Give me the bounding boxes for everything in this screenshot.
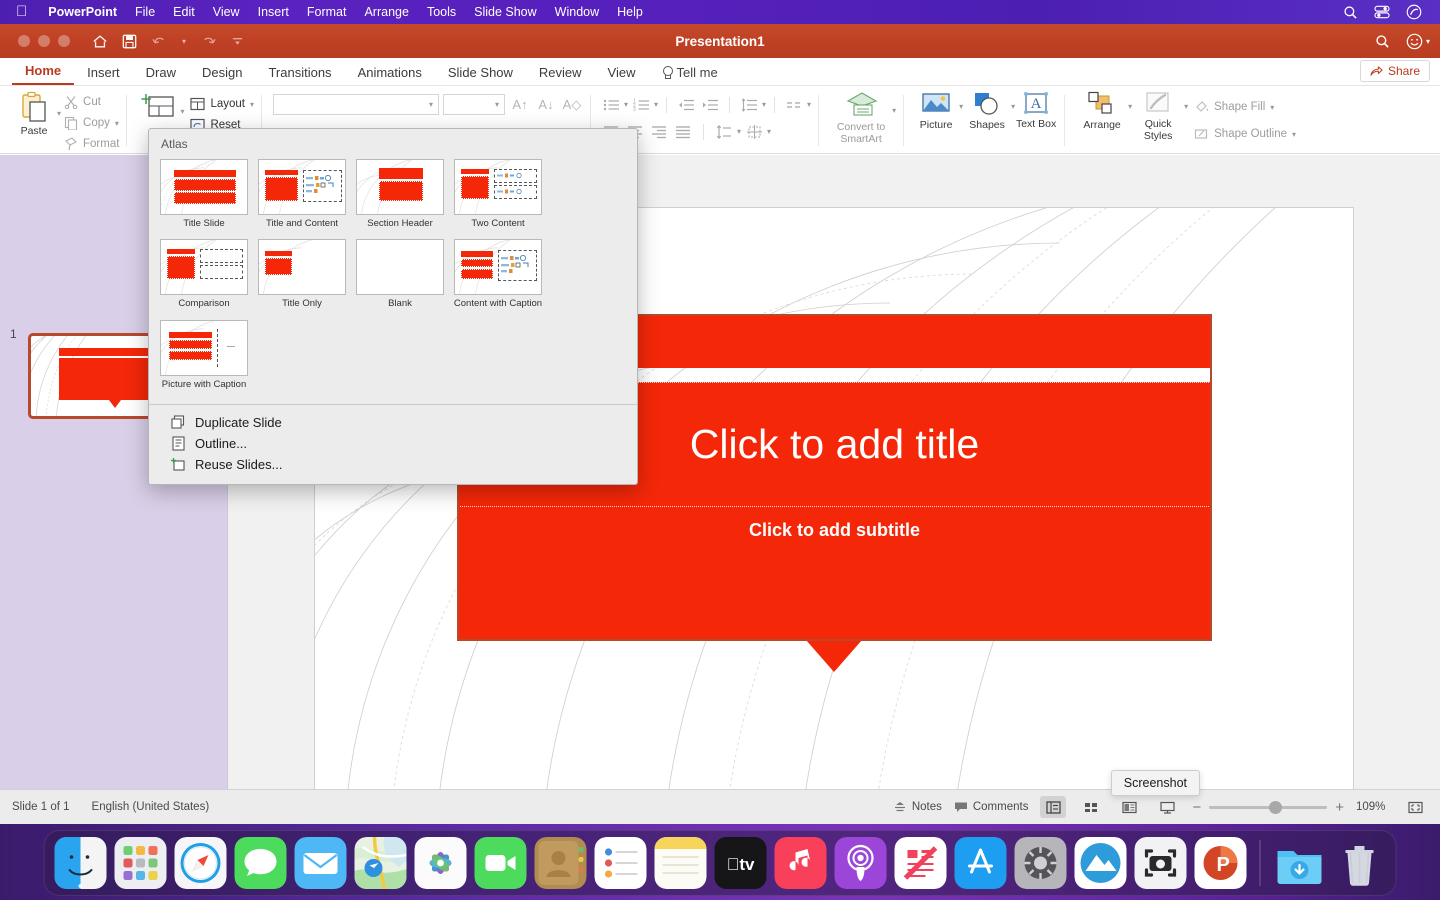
slide-thumbnail-number: 1 — [10, 327, 17, 341]
cut-icon — [64, 95, 78, 109]
convert-to-smartart-button[interactable]: Convert to SmartArt — [830, 88, 892, 145]
zoom-knob[interactable] — [1269, 801, 1282, 814]
svg-text:A: A — [1031, 96, 1042, 112]
shape-outline-button[interactable]: Shape Outline ▾ — [1194, 125, 1296, 143]
view-slide-sorter-icon[interactable] — [1078, 796, 1104, 818]
powerpoint-icon[interactable]: P — [1195, 837, 1247, 889]
cut-label: Cut — [83, 96, 101, 108]
share-label: Share — [1388, 64, 1420, 78]
outline-icon — [171, 436, 186, 451]
macos-menubar:  PowerPoint File Edit View Insert Forma… — [0, 0, 1440, 24]
subtitle-placeholder-text: Click to add subtitle — [749, 520, 920, 541]
screenshot-tooltip: Screenshot — [1111, 770, 1200, 796]
menubar-item-tools[interactable]: Tools — [418, 5, 465, 19]
ribbon-group-insert: Picture ▾ Shapes ▾ — [903, 88, 1064, 153]
account-icon[interactable]: ▾ — [1406, 33, 1430, 50]
shapes-button[interactable]: Shapes — [963, 88, 1011, 131]
duplicate-slide-menu-item[interactable]: Duplicate Slide — [149, 412, 637, 433]
layout-option-blank[interactable]: Blank — [351, 237, 449, 317]
columns-icon[interactable] — [783, 94, 805, 115]
quick-styles-label: Quick Styles — [1132, 119, 1184, 142]
layout-thumb-title-only — [258, 239, 346, 295]
paste-label: Paste — [21, 125, 48, 137]
close-window-button[interactable] — [18, 35, 30, 47]
notes-icon — [893, 801, 907, 813]
running-indicator — [199, 884, 203, 888]
new-slide-dropdown-arrow[interactable]: ▾ — [180, 107, 184, 116]
menubar-item-file[interactable]: File — [126, 5, 164, 19]
maximize-window-button[interactable] — [58, 35, 70, 47]
layout-option-two-content[interactable]: Two Content — [449, 157, 547, 237]
layout-caption: Two Content — [471, 219, 524, 229]
line-spacing-dropdown-arrow[interactable]: ▾ — [762, 100, 766, 109]
align-right-icon[interactable] — [648, 121, 670, 142]
menubar-item-arrange[interactable]: Arrange — [355, 5, 417, 19]
tab-insert[interactable]: Insert — [74, 65, 133, 85]
outline-label: Outline... — [195, 436, 247, 451]
layout-caption: Title and Content — [266, 219, 338, 229]
layout-label: Layout — [210, 98, 245, 110]
duplicate-slide-icon — [171, 415, 186, 430]
window-traffic-lights[interactable] — [18, 35, 70, 47]
font-name-input[interactable]: ▾ — [273, 94, 439, 115]
view-normal-icon[interactable] — [1040, 796, 1066, 818]
svg-text:tv: tv — [727, 855, 755, 874]
ribbon-search-icon[interactable] — [1375, 34, 1390, 49]
menubar-item-insert[interactable]: Insert — [249, 5, 298, 19]
layout-option-comparison[interactable]: Comparison — [155, 237, 253, 317]
messages-icon[interactable] — [235, 837, 287, 889]
layout-icon — [190, 97, 205, 111]
arrange-button[interactable]: Arrange — [1076, 88, 1128, 131]
subtitle-placeholder[interactable]: Click to add subtitle — [458, 507, 1211, 640]
bullets-icon[interactable] — [600, 94, 622, 115]
ribbon-tab-strip: Home Insert Draw Design Transitions Anim… — [0, 58, 1440, 86]
comments-button[interactable]: Comments — [954, 801, 1029, 813]
layout-button[interactable]: Layout ▾ — [190, 95, 254, 113]
menubar-item-format[interactable]: Format — [298, 5, 356, 19]
window-titlebar: ▾ Presentation1 ▾ — [0, 24, 1440, 58]
customize-toolbar-icon[interactable] — [231, 35, 244, 48]
notes-label: Notes — [912, 801, 942, 813]
font-size-input[interactable]: ▾ — [443, 94, 505, 115]
tab-draw[interactable]: Draw — [133, 65, 189, 85]
zoom-slider[interactable]: − + — [1192, 799, 1344, 816]
photos-icon[interactable] — [415, 837, 467, 889]
text-box-button[interactable]: A Text Box — [1015, 88, 1057, 131]
zoom-out-icon[interactable]: − — [1192, 799, 1201, 816]
layout-dropdown-menu[interactable]: Atlas Title Slide — [148, 128, 638, 485]
new-slide-button[interactable] — [136, 88, 180, 123]
menubar-item-help[interactable]: Help — [608, 5, 652, 19]
macos-dock: tv — [44, 830, 1397, 896]
layout-caption: Content with Caption — [454, 299, 542, 309]
dock-divider — [1260, 840, 1261, 886]
layout-option-title-slide[interactable]: Title Slide — [155, 157, 253, 237]
layout-theme-name: Atlas — [149, 129, 637, 157]
picture-button[interactable]: Picture — [913, 88, 959, 131]
notes-button[interactable]: Notes — [893, 801, 942, 813]
shapes-label: Shapes — [969, 119, 1005, 131]
arrange-icon — [1087, 91, 1117, 117]
shape-outline-label: Shape Outline — [1214, 128, 1287, 140]
share-icon — [1370, 65, 1383, 77]
status-bar: Slide 1 of 1 English (United States) Not… — [0, 789, 1440, 824]
notes-icon[interactable] — [655, 837, 707, 889]
reminders-icon[interactable] — [595, 837, 647, 889]
comments-label: Comments — [973, 801, 1029, 813]
grow-font-icon[interactable]: A↑ — [509, 94, 531, 115]
smartart-icon — [844, 91, 878, 119]
shape-fill-button[interactable]: Shape Fill ▾ — [1194, 98, 1296, 116]
copy-button[interactable]: Copy ▾ — [64, 114, 119, 132]
comments-icon — [954, 801, 968, 813]
clear-formatting-icon[interactable]: A◇ — [561, 94, 583, 115]
layout-caption: Title Only — [282, 299, 322, 309]
copy-label: Copy — [83, 117, 110, 129]
lightbulb-icon — [662, 66, 672, 79]
shapes-icon — [972, 91, 1002, 117]
reuse-slides-label: Reuse Slides... — [195, 457, 282, 472]
shape-outline-icon — [1194, 127, 1209, 141]
apple-icon[interactable]:  — [8, 4, 39, 21]
cut-button[interactable]: Cut — [64, 93, 119, 111]
layout-option-section-header[interactable]: Section Header — [351, 157, 449, 237]
picture-icon — [921, 91, 951, 117]
view-reading-icon[interactable] — [1116, 796, 1142, 818]
duplicate-slide-label: Duplicate Slide — [195, 415, 282, 430]
undo-icon[interactable] — [151, 34, 168, 48]
zoom-track[interactable] — [1209, 806, 1327, 809]
layout-caption: Comparison — [178, 299, 229, 309]
layout-thumb-comparison — [160, 239, 248, 295]
picture-label: Picture — [920, 119, 953, 131]
line-spacing-icon[interactable] — [738, 94, 760, 115]
tab-design[interactable]: Design — [189, 65, 255, 85]
appletv-icon[interactable]: tv — [715, 837, 767, 889]
redo-icon[interactable] — [200, 34, 217, 48]
search-icon[interactable] — [1343, 5, 1358, 20]
reuse-slides-icon — [171, 457, 186, 472]
copy-icon — [64, 116, 78, 130]
tab-slide-show[interactable]: Slide Show — [435, 65, 526, 85]
contacts-icon[interactable] — [535, 837, 587, 889]
svg-text:P: P — [1217, 854, 1230, 876]
view-slideshow-icon[interactable] — [1154, 796, 1180, 818]
quick-styles-button[interactable]: Quick Styles — [1132, 88, 1184, 142]
layout-gallery: Title Slide Title and Content — [149, 157, 637, 402]
quick-styles-icon — [1144, 91, 1172, 117]
paste-button[interactable]: Paste — [7, 88, 61, 137]
running-indicator — [79, 884, 83, 888]
menubar-item-edit[interactable]: Edit — [164, 5, 204, 19]
language-label[interactable]: English (United States) — [92, 801, 210, 813]
preview-icon[interactable] — [1075, 837, 1127, 889]
system-settings-icon[interactable] — [1015, 837, 1067, 889]
menubar-item-window[interactable]: Window — [546, 5, 608, 19]
zoom-level-label: 109% — [1356, 801, 1390, 813]
decrease-indent-icon[interactable] — [675, 94, 697, 115]
shape-fill-label: Shape Fill — [1214, 101, 1265, 113]
tell-me-label: Tell me — [677, 65, 718, 80]
layout-option-content-with-caption[interactable]: Content with Caption — [449, 237, 547, 317]
layout-thumb-blank — [356, 239, 444, 295]
format-painter-icon — [64, 137, 78, 151]
menubar-item-slide-show[interactable]: Slide Show — [465, 5, 546, 19]
layout-thumb-content-with-caption — [454, 239, 542, 295]
trash-icon[interactable] — [1334, 837, 1386, 889]
news-icon[interactable] — [895, 837, 947, 889]
music-icon[interactable] — [775, 837, 827, 889]
outline-menu-item[interactable]: Outline... — [149, 433, 637, 454]
justify-icon[interactable] — [672, 121, 694, 142]
launchpad-icon[interactable] — [115, 837, 167, 889]
layout-thumb-title-slide — [160, 159, 248, 215]
minimize-window-button[interactable] — [38, 35, 50, 47]
numbering-icon[interactable]: 123 — [630, 94, 652, 115]
layout-thumb-title-and-content — [258, 159, 346, 215]
slide-count-label: Slide 1 of 1 — [12, 801, 70, 813]
podcasts-icon[interactable] — [835, 837, 887, 889]
layout-option-title-and-content[interactable]: Title and Content — [253, 157, 351, 237]
downloads-folder-icon[interactable] — [1274, 837, 1326, 889]
slide-pointer-decoration — [806, 640, 862, 672]
paragraph-row-1: ▾ 123 ▾ ▾ — [600, 94, 811, 115]
numbering-dropdown-arrow[interactable]: ▾ — [654, 100, 658, 109]
powerpoint-window: ▾ Presentation1 ▾ Home — [0, 24, 1440, 824]
facetime-icon[interactable] — [475, 837, 527, 889]
menubar-item-view[interactable]: View — [204, 5, 249, 19]
macos-dock-background: tv — [0, 824, 1440, 900]
maps-icon[interactable] — [355, 837, 407, 889]
ribbon-group-clipboard: Paste ▾ Cut Copy ▾ — [0, 88, 126, 153]
format-painter-button[interactable]: Format — [64, 135, 119, 153]
layout-menu-commands: Duplicate Slide Outline... Reuse Slides.… — [149, 405, 637, 484]
home-icon[interactable] — [92, 34, 108, 49]
layout-caption: Picture with Caption — [162, 380, 246, 390]
layout-thumb-section-header — [356, 159, 444, 215]
fit-slide-icon[interactable] — [1402, 796, 1428, 818]
layout-caption: Section Header — [367, 219, 432, 229]
layout-thumb-two-content — [454, 159, 542, 215]
reuse-slides-menu-item[interactable]: Reuse Slides... — [149, 454, 637, 475]
paste-icon — [19, 91, 49, 123]
text-direction-dropdown-arrow[interactable]: ▾ — [737, 127, 741, 136]
safari-icon[interactable] — [175, 837, 227, 889]
running-indicator — [1219, 884, 1223, 888]
tab-home[interactable]: Home — [12, 63, 74, 85]
layout-thumb-picture-with-caption — [160, 320, 248, 376]
text-box-icon: A — [1022, 91, 1050, 117]
tab-review[interactable]: Review — [526, 65, 595, 85]
menubar-app-name[interactable]: PowerPoint — [39, 5, 126, 19]
tab-view[interactable]: View — [595, 65, 649, 85]
convert-to-smartart-label: Convert to SmartArt — [830, 121, 892, 145]
shape-fill-icon — [1194, 100, 1209, 114]
shrink-font-icon[interactable]: A↓ — [535, 94, 557, 115]
ribbon-group-drawing: Arrange ▾ Quick Styles ▾ — [1064, 88, 1303, 153]
mail-icon[interactable] — [295, 837, 347, 889]
ribbon-group-smartart: Convert to SmartArt ▾ — [818, 88, 903, 153]
columns-dropdown-arrow[interactable]: ▾ — [807, 100, 811, 109]
save-icon[interactable] — [122, 34, 137, 49]
screenshot-icon[interactable] — [1135, 837, 1187, 889]
tab-transitions[interactable]: Transitions — [255, 65, 344, 85]
finder-icon[interactable] — [55, 837, 107, 889]
siri-icon[interactable] — [1406, 4, 1422, 20]
text-direction-icon[interactable] — [713, 121, 735, 142]
align-text-dropdown-arrow[interactable]: ▾ — [767, 127, 771, 136]
control-center-icon[interactable] — [1374, 5, 1390, 19]
tell-me-button[interactable]: Tell me — [649, 65, 731, 85]
layout-caption: Title Slide — [183, 219, 224, 229]
bullets-dropdown-arrow[interactable]: ▾ — [624, 100, 628, 109]
layout-option-title-only[interactable]: Title Only — [253, 237, 351, 317]
format-painter-label: Format — [83, 138, 119, 150]
increase-indent-icon[interactable] — [699, 94, 721, 115]
layout-caption: Blank — [388, 299, 412, 309]
arrange-label: Arrange — [1083, 119, 1120, 131]
layout-option-picture-with-caption[interactable]: Picture with Caption — [155, 318, 253, 398]
title-placeholder-text: Click to add title — [690, 421, 979, 468]
zoom-in-icon[interactable]: + — [1335, 799, 1344, 816]
text-box-label: Text Box — [1016, 119, 1056, 131]
align-text-icon[interactable] — [743, 121, 765, 142]
appstore-icon[interactable] — [955, 837, 1007, 889]
svg-text:3: 3 — [633, 107, 636, 112]
new-slide-icon — [141, 91, 175, 123]
tab-animations[interactable]: Animations — [345, 65, 435, 85]
share-button[interactable]: Share — [1360, 60, 1430, 82]
